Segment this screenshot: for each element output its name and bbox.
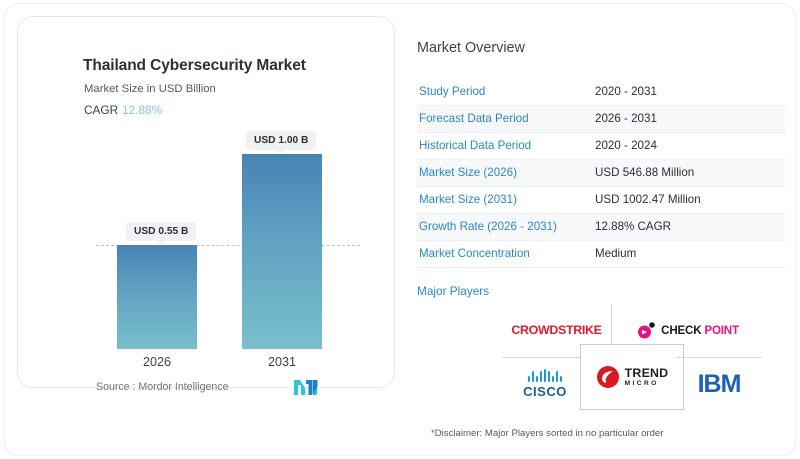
overview-title: Market Overview	[417, 40, 785, 56]
checkpoint-word-check: CHECK	[661, 324, 701, 337]
overview-table: Study Period 2020 - 2031 Forecast Data P…	[417, 78, 785, 268]
row-key: Market Concentration	[417, 240, 595, 267]
mordor-intelligence-logo	[292, 377, 326, 397]
trendmicro-word-trend: TREND	[625, 367, 669, 379]
bar-label-2031: USD 1.00 B	[246, 131, 316, 150]
checkpoint-mark-icon	[636, 320, 656, 340]
category-label-2031: 2031	[237, 355, 327, 369]
bar-2026[interactable]	[117, 245, 197, 349]
cisco-logo-text: CISCO	[523, 384, 567, 399]
logo-cell-trendmicro: TREND MICRO	[580, 344, 684, 410]
row-value: 2020 - 2024	[595, 132, 785, 159]
bar-2031[interactable]	[242, 154, 322, 349]
row-value: 2026 - 2031	[595, 105, 785, 132]
cisco-logo: CISCO	[523, 369, 567, 399]
table-row: Study Period 2020 - 2031	[417, 78, 785, 105]
row-key: Market Size (2031)	[417, 186, 595, 213]
major-players-logo-grid: CROWDSTRIKE CHECK POINT	[502, 304, 762, 410]
ibm-logo: IBM	[698, 370, 741, 399]
table-row: Market Size (2026) USD 546.88 Million	[417, 159, 785, 186]
logo-cell-cisco: CISCO	[502, 357, 588, 410]
trendmicro-logo-text: TREND MICRO	[625, 367, 669, 388]
table-row: Market Size (2031) USD 1002.47 Million	[417, 186, 785, 213]
checkpoint-logo-text: CHECK POINT	[661, 324, 739, 337]
row-key: Growth Rate (2026 - 2031)	[417, 213, 595, 240]
chart-source: Source : Mordor Intelligence	[96, 381, 229, 393]
table-row: Historical Data Period 2020 - 2024	[417, 132, 785, 159]
players-disclaimer: *Disclaimer: Major Players sorted in no …	[431, 428, 663, 439]
trendmicro-logo: TREND MICRO	[596, 365, 669, 389]
row-value: USD 546.88 Million	[595, 159, 785, 186]
major-players-title: Major Players	[417, 284, 785, 298]
row-value: Medium	[595, 240, 785, 267]
chart-card: Thailand Cybersecurity Market Market Siz…	[17, 16, 395, 388]
category-label-2026: 2026	[112, 355, 202, 369]
row-key: Historical Data Period	[417, 132, 595, 159]
bar-label-2026: USD 0.55 B	[126, 222, 196, 241]
row-value: USD 1002.47 Million	[595, 186, 785, 213]
market-overview-panel: Market Overview Study Period 2020 - 2031…	[417, 40, 785, 298]
page-frame: Thailand Cybersecurity Market Market Siz…	[4, 3, 796, 456]
row-key: Study Period	[417, 78, 595, 105]
row-key: Market Size (2026)	[417, 159, 595, 186]
checkpoint-logo: CHECK POINT	[636, 320, 739, 340]
row-value: 2020 - 2031	[595, 78, 785, 105]
chart-plot-area: USD 0.55 B USD 1.00 B 2026 2031	[18, 17, 396, 389]
crowdstrike-logo: CROWDSTRIKE	[511, 323, 601, 337]
table-row: Growth Rate (2026 - 2031) 12.88% CAGR	[417, 213, 785, 240]
checkpoint-word-point: POINT	[704, 324, 738, 337]
table-row: Market Concentration Medium	[417, 240, 785, 267]
cisco-bars-icon	[523, 369, 567, 382]
crowdstrike-logo-text: CROWDSTRIKE	[511, 323, 601, 337]
logo-cell-ibm: IBM	[676, 357, 762, 410]
row-key: Forecast Data Period	[417, 105, 595, 132]
trendmicro-word-micro: MICRO	[625, 381, 669, 388]
table-row: Forecast Data Period 2026 - 2031	[417, 105, 785, 132]
row-value: 12.88% CAGR	[595, 213, 785, 240]
trendmicro-mark-icon	[596, 365, 620, 389]
